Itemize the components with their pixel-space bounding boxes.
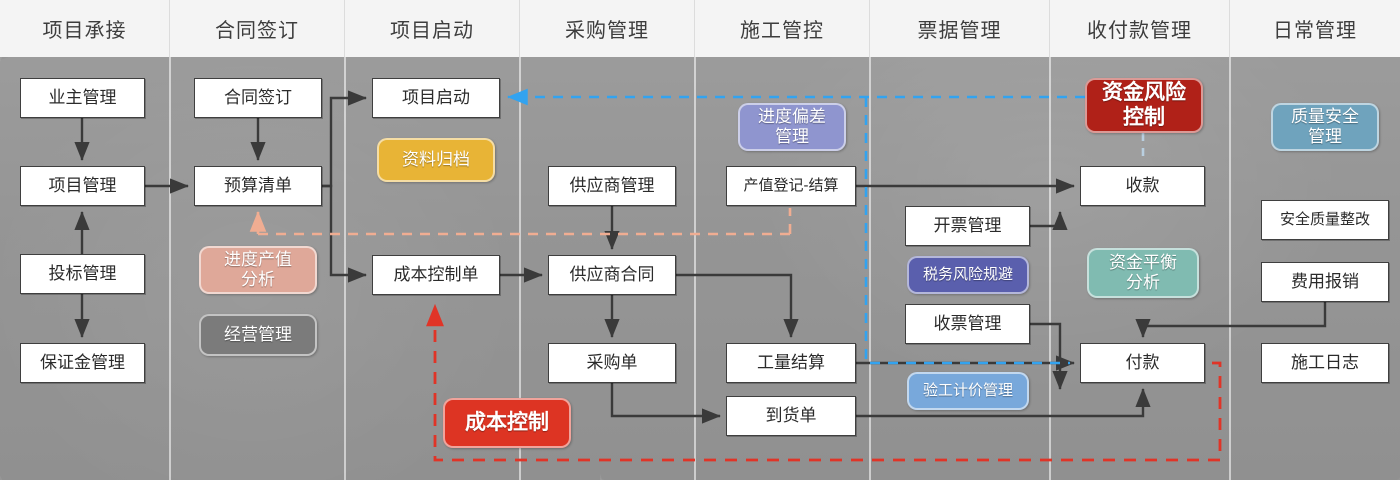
node-pay[interactable]: 付款 xyxy=(1080,343,1205,383)
node-label: 产值登记-结算 xyxy=(744,177,839,194)
phase-header-7[interactable]: 收付款管理 xyxy=(1050,0,1230,57)
phase-header-1[interactable]: 项目承接 xyxy=(0,0,170,57)
node-invoicein[interactable]: 收票管理 xyxy=(905,304,1030,344)
node-label: 施工日志 xyxy=(1291,353,1359,373)
phase-header-3[interactable]: 项目启动 xyxy=(345,0,520,57)
dashed-orange-connectors xyxy=(258,208,790,234)
node-progval[interactable]: 进度产值分析 xyxy=(199,246,317,294)
edge-invoiceout-receive xyxy=(1030,212,1060,226)
node-label: 进度偏差管理 xyxy=(758,107,826,146)
node-settle[interactable]: 工量结算 xyxy=(726,343,856,383)
edge-budget-costsheet xyxy=(322,186,366,275)
node-label: 供应商管理 xyxy=(570,176,655,196)
node-rectify[interactable]: 安全质量整改 xyxy=(1261,200,1389,240)
node-label: 进度产值分析 xyxy=(224,250,292,289)
phase-header-row: 项目承接合同签订项目启动采购管理施工管控票据管理收付款管理日常管理 xyxy=(0,0,1400,57)
node-label: 到货单 xyxy=(766,406,817,426)
node-fundrisk[interactable]: 资金风险控制 xyxy=(1085,78,1203,133)
node-qualitysafe[interactable]: 质量安全管理 xyxy=(1271,103,1379,151)
node-label: 采购单 xyxy=(587,353,638,373)
edge-budget-start xyxy=(322,98,366,186)
phase-header-5[interactable]: 施工管控 xyxy=(695,0,870,57)
phase-header-2[interactable]: 合同签订 xyxy=(170,0,345,57)
node-label: 资料归档 xyxy=(402,150,470,170)
node-taxrisk[interactable]: 税务风险规避 xyxy=(907,256,1029,294)
node-valuation[interactable]: 验工计价管理 xyxy=(907,372,1029,410)
node-start[interactable]: 项目启动 xyxy=(372,78,500,118)
node-label: 保证金管理 xyxy=(40,353,125,373)
node-label: 开票管理 xyxy=(934,216,1002,236)
phase-header-6[interactable]: 票据管理 xyxy=(870,0,1050,57)
phase-header-8[interactable]: 日常管理 xyxy=(1230,0,1400,57)
node-bid[interactable]: 投标管理 xyxy=(20,254,145,294)
node-label: 预算清单 xyxy=(224,176,292,196)
phase-header-4[interactable]: 采购管理 xyxy=(520,0,695,57)
node-operate[interactable]: 经营管理 xyxy=(199,314,317,356)
flowchart-canvas: 项目承接合同签订项目启动采购管理施工管控票据管理收付款管理日常管理 xyxy=(0,0,1400,480)
edge-supcontract-settle xyxy=(676,275,791,337)
node-label: 费用报销 xyxy=(1291,272,1359,292)
node-label: 质量安全管理 xyxy=(1291,107,1359,146)
edge-purchase-arrival xyxy=(612,383,720,416)
edge-invoicein-pay xyxy=(1030,324,1060,389)
node-label: 成本控制单 xyxy=(394,265,479,285)
node-label: 经营管理 xyxy=(224,325,292,345)
node-label: 收票管理 xyxy=(934,314,1002,334)
node-budget[interactable]: 预算清单 xyxy=(194,166,322,206)
node-costsheet[interactable]: 成本控制单 xyxy=(372,255,500,295)
node-label: 工量结算 xyxy=(757,353,825,373)
node-purchase[interactable]: 采购单 xyxy=(548,343,676,383)
node-label: 税务风险规避 xyxy=(923,266,1013,283)
edge-expense-pay xyxy=(1143,302,1325,337)
node-receive[interactable]: 收款 xyxy=(1080,166,1205,206)
node-label: 成本控制 xyxy=(465,411,549,435)
node-label: 合同签订 xyxy=(224,88,292,108)
node-label: 业主管理 xyxy=(49,88,117,108)
node-label: 安全质量整改 xyxy=(1280,211,1370,228)
node-label: 项目管理 xyxy=(49,176,117,196)
node-expense[interactable]: 费用报销 xyxy=(1261,262,1389,302)
node-invoiceout[interactable]: 开票管理 xyxy=(905,206,1030,246)
node-worklog[interactable]: 施工日志 xyxy=(1261,343,1389,383)
node-label: 付款 xyxy=(1126,353,1160,373)
node-output[interactable]: 产值登记-结算 xyxy=(726,166,856,206)
node-label: 验工计价管理 xyxy=(923,382,1013,399)
node-deviation[interactable]: 进度偏差管理 xyxy=(738,103,846,151)
node-supcontract[interactable]: 供应商合同 xyxy=(548,255,676,295)
node-contract[interactable]: 合同签订 xyxy=(194,78,322,118)
node-label: 收款 xyxy=(1126,176,1160,196)
node-archive[interactable]: 资料归档 xyxy=(377,138,495,182)
node-costctrl[interactable]: 成本控制 xyxy=(443,398,571,448)
node-label: 项目启动 xyxy=(402,88,470,108)
node-deposit[interactable]: 保证金管理 xyxy=(20,343,145,383)
node-label: 资金风险控制 xyxy=(1102,81,1186,129)
node-label: 供应商合同 xyxy=(570,265,655,285)
node-arrival[interactable]: 到货单 xyxy=(726,396,856,436)
node-project[interactable]: 项目管理 xyxy=(20,166,145,206)
node-label: 资金平衡分析 xyxy=(1109,253,1177,292)
node-supplier[interactable]: 供应商管理 xyxy=(548,166,676,206)
node-owner[interactable]: 业主管理 xyxy=(20,78,145,118)
connector-layer xyxy=(0,0,1400,480)
node-label: 投标管理 xyxy=(49,264,117,284)
node-balance[interactable]: 资金平衡分析 xyxy=(1087,248,1199,298)
